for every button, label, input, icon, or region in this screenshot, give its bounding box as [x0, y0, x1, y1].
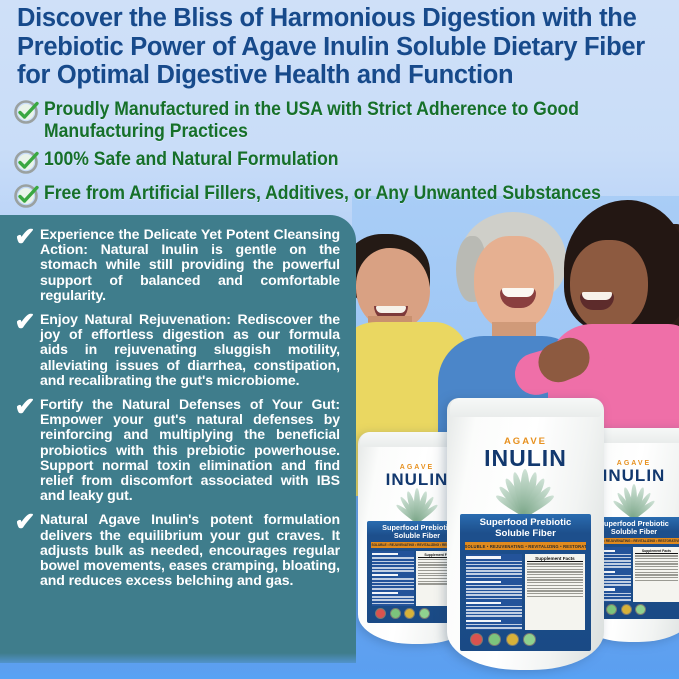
seal-gmp-icon	[506, 633, 519, 646]
benefit-text: Natural Agave Inulin's potent formulatio…	[40, 512, 344, 588]
seal-gmp-icon	[621, 604, 632, 615]
label-info-box: Superfood Prebiotic Soluble Fiber SOLUBL…	[460, 514, 592, 651]
seal-nongmo-icon	[419, 608, 430, 619]
page-headline: Discover the Bliss of Harmonious Digesti…	[17, 4, 667, 90]
check-circle-icon	[12, 148, 44, 176]
feature-bullet-text: Proudly Manufactured in the USA with Str…	[44, 98, 611, 142]
product-pouch-center: AGAVE INULIN Superfood Prebiotic Soluble…	[447, 398, 604, 670]
seal-nongmo-icon	[523, 633, 536, 646]
seal-gmp-icon	[404, 608, 415, 619]
feature-bullet: Proudly Manufactured in the USA with Str…	[12, 98, 674, 142]
supplement-facts-title: Supplement Facts	[635, 549, 677, 554]
woman-blue-face	[474, 236, 554, 332]
feature-bullet: 100% Safe and Natural Formulation	[12, 148, 674, 176]
woman-blue-teeth	[502, 288, 534, 297]
brand-inulin-text: INULIN	[460, 445, 592, 472]
seal-usa-icon	[375, 608, 386, 619]
check-circle-icon	[12, 98, 44, 126]
supplement-facts-panel: Supplement Facts	[633, 547, 679, 602]
benefit-item: ✔ Natural Agave Inulin's potent formulat…	[10, 512, 344, 588]
check-icon: ✔	[10, 227, 40, 247]
benefit-text: Experience the Delicate Yet Potent Clean…	[40, 227, 344, 303]
seal-nongmo-icon	[635, 604, 646, 615]
supplement-facts-title: Supplement Facts	[527, 556, 582, 562]
seal-usa-icon	[470, 633, 483, 646]
feature-bullet-list: Proudly Manufactured in the USA with Str…	[12, 98, 674, 216]
attribute-bar: SOLUBLE • REJUVENATING • REVITALIZING • …	[465, 542, 587, 550]
woman-yellow-teeth	[376, 306, 406, 313]
label-subtitle-line2: Soluble Fiber	[463, 529, 589, 540]
benefits-panel: ✔ Experience the Delicate Yet Potent Cle…	[0, 215, 356, 663]
supplement-facts-panel: Supplement Facts	[525, 554, 584, 630]
check-circle-icon	[12, 182, 44, 210]
label-description-block	[372, 551, 413, 606]
pouch-top-seal	[450, 398, 601, 417]
benefit-item: ✔ Fortify the Natural Defenses of Your G…	[10, 397, 344, 503]
feature-bullet: Free from Artificial Fillers, Additives,…	[12, 182, 674, 210]
woman-pink-face	[570, 240, 648, 332]
feature-bullet-text: Free from Artificial Fillers, Additives,…	[44, 182, 601, 204]
certification-seals	[463, 630, 589, 646]
product-marketing-image: AGAVE INULIN Superfood Prebiotic Soluble…	[0, 0, 679, 679]
agave-plant-graphic	[460, 474, 592, 514]
check-icon: ✔	[10, 312, 40, 332]
seal-vegan-icon	[390, 608, 401, 619]
feature-bullet-text: 100% Safe and Natural Formulation	[44, 148, 339, 170]
check-icon: ✔	[10, 512, 40, 532]
seal-vegan-icon	[606, 604, 617, 615]
check-icon: ✔	[10, 397, 40, 417]
benefit-text: Fortify the Natural Defenses of Your Gut…	[40, 397, 344, 503]
benefit-text: Enjoy Natural Rejuvenation: Rediscover t…	[40, 312, 344, 388]
benefit-item: ✔ Experience the Delicate Yet Potent Cle…	[10, 227, 344, 303]
seal-vegan-icon	[488, 633, 501, 646]
pouch-label-center: AGAVE INULIN Superfood Prebiotic Soluble…	[460, 436, 592, 651]
woman-pink-teeth	[582, 292, 612, 300]
label-description-block	[466, 554, 521, 630]
benefit-item: ✔ Enjoy Natural Rejuvenation: Rediscover…	[10, 312, 344, 388]
